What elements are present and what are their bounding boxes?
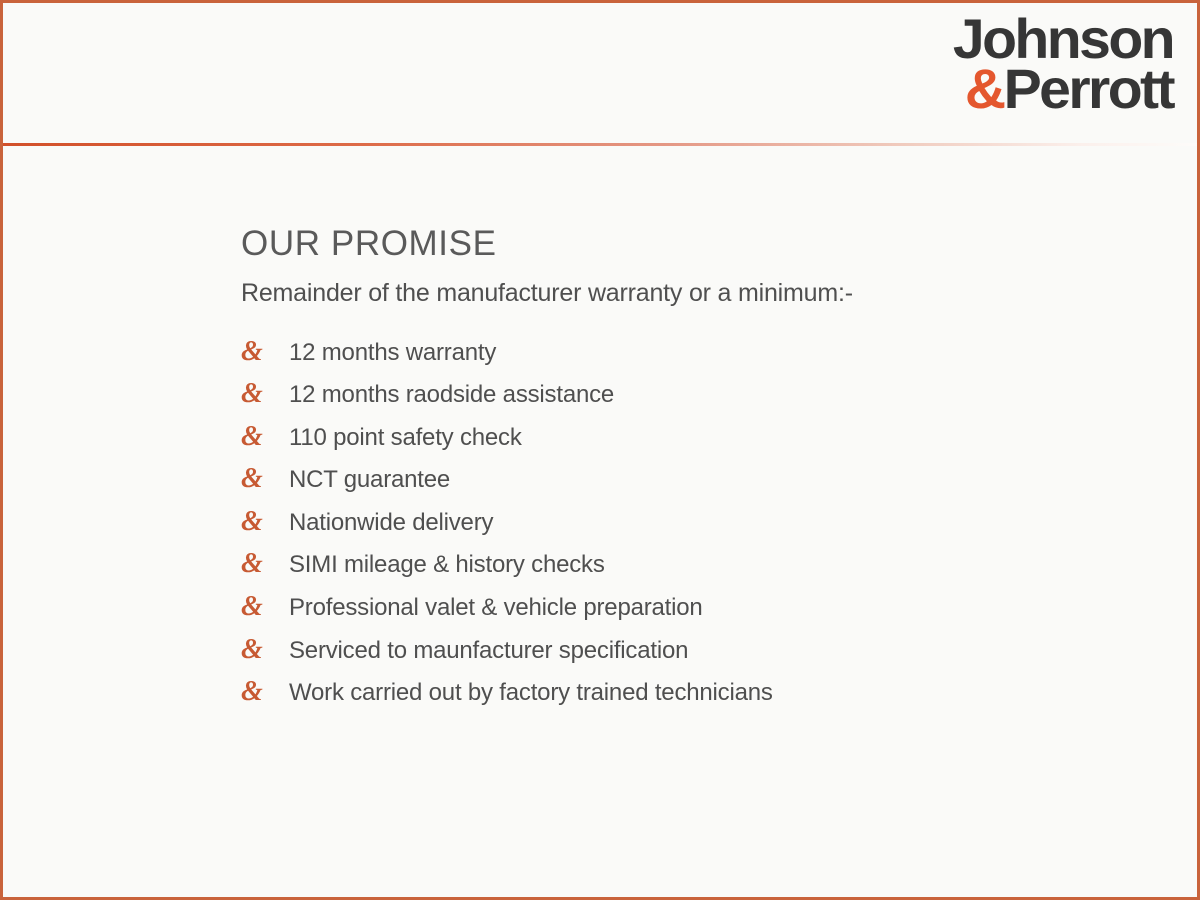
logo-ampersand-icon: & (965, 57, 1004, 120)
list-item: & Work carried out by factory trained te… (241, 678, 1141, 707)
promise-content: OUR PROMISE Remainder of the manufacture… (241, 225, 1141, 721)
ampersand-bullet-icon: & (241, 508, 289, 536)
promise-page: Johnson &Perrott OUR PROMISE Remainder o… (0, 0, 1200, 900)
promise-list: & 12 months warranty & 12 months raodsid… (241, 338, 1141, 707)
list-item: & Professional valet & vehicle preparati… (241, 593, 1141, 622)
ampersand-bullet-icon: & (241, 550, 289, 578)
ampersand-bullet-icon: & (241, 338, 289, 366)
header-underline-rule (3, 143, 1200, 146)
ampersand-bullet-icon: & (241, 465, 289, 493)
ampersand-bullet-icon: & (241, 636, 289, 664)
johnson-and-perrott-logo: Johnson &Perrott (873, 11, 1173, 139)
list-item-label: 110 point safety check (289, 424, 522, 452)
ampersand-bullet-icon: & (241, 380, 289, 408)
list-item-label: Work carried out by factory trained tech… (289, 679, 773, 707)
list-item-label: Serviced to maunfacturer specification (289, 637, 688, 665)
list-item: & Serviced to maunfacturer specification (241, 636, 1141, 665)
list-item: & Nationwide delivery (241, 508, 1141, 537)
list-item: & NCT guarantee (241, 465, 1141, 494)
logo-text-perrott-line: &Perrott (867, 61, 1173, 117)
ampersand-bullet-icon: & (241, 423, 289, 451)
list-item-label: 12 months warranty (289, 339, 496, 367)
logo-text-perrott: Perrott (1004, 57, 1173, 120)
ampersand-bullet-icon: & (241, 593, 289, 621)
list-item: & 12 months warranty (241, 338, 1141, 367)
list-item: & SIMI mileage & history checks (241, 550, 1141, 579)
list-item-label: Professional valet & vehicle preparation (289, 594, 703, 622)
list-item-label: SIMI mileage & history checks (289, 551, 605, 579)
list-item: & 12 months raodside assistance (241, 380, 1141, 409)
promise-subtitle: Remainder of the manufacturer warranty o… (241, 278, 1141, 308)
page-title: OUR PROMISE (241, 225, 1141, 264)
list-item: & 110 point safety check (241, 423, 1141, 452)
ampersand-bullet-icon: & (241, 678, 289, 706)
list-item-label: 12 months raodside assistance (289, 381, 614, 409)
list-item-label: NCT guarantee (289, 466, 450, 494)
list-item-label: Nationwide delivery (289, 509, 493, 537)
